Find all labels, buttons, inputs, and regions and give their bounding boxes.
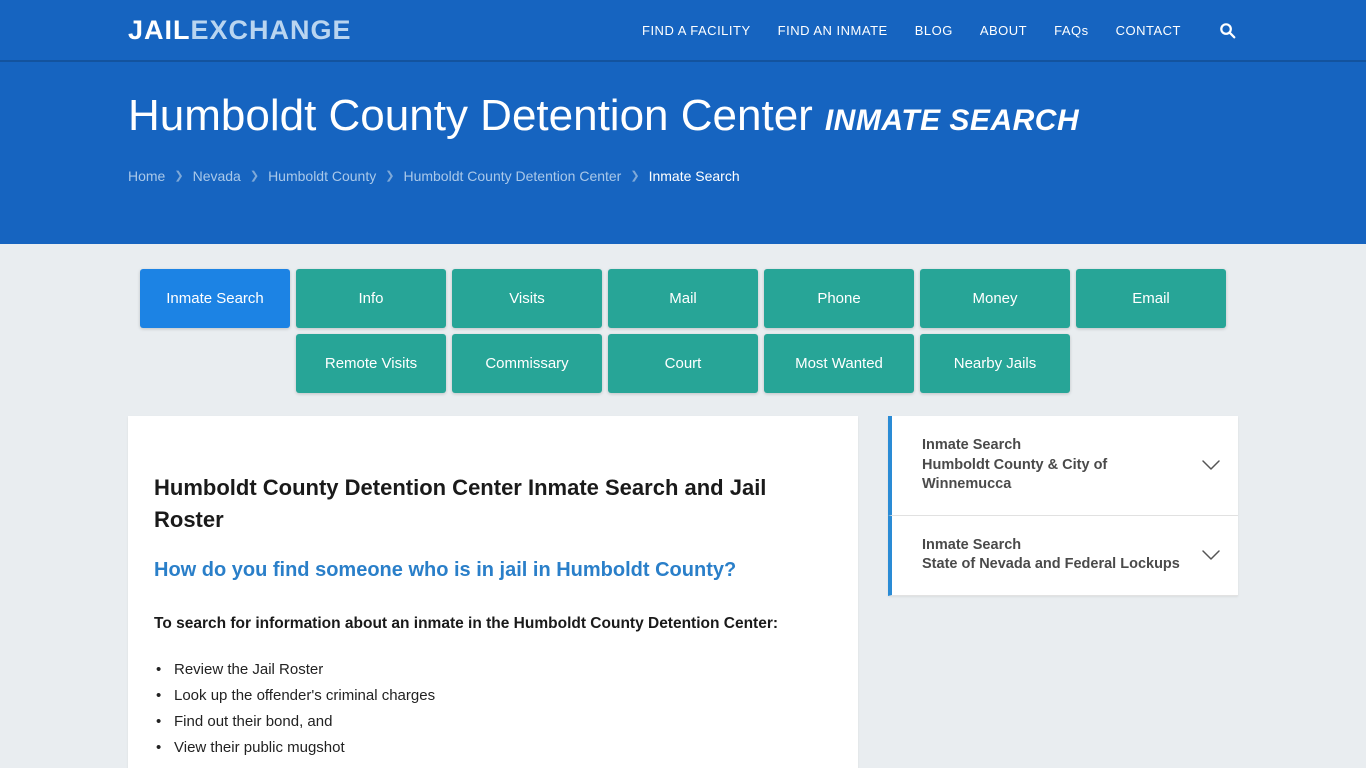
breadcrumb-item-home[interactable]: Home — [128, 168, 165, 184]
nav-item-contact[interactable]: CONTACT — [1116, 23, 1181, 38]
logo-text-exchange: EXCHANGE — [191, 15, 352, 45]
chevron-down-icon[interactable] — [1198, 549, 1224, 561]
nav-item-blog[interactable]: BLOG — [915, 23, 953, 38]
nav-item-faqs[interactable]: FAQs — [1054, 23, 1089, 38]
tab-inmate-search[interactable]: Inmate Search — [140, 269, 290, 328]
breadcrumb: Home ❯ Nevada ❯ Humboldt County ❯ Humbol… — [128, 168, 1366, 184]
accordion-item-humboldt-county[interactable]: Inmate Search Humboldt County & City of … — [888, 416, 1238, 516]
nav-item-find-a-facility[interactable]: FIND A FACILITY — [642, 23, 751, 38]
sidebar: Inmate Search Humboldt County & City of … — [888, 416, 1238, 596]
tab-visits[interactable]: Visits — [452, 269, 602, 328]
breadcrumb-separator-icon: ❯ — [250, 169, 259, 182]
accordion-title-line2: Humboldt County & City of Winnemucca — [922, 456, 1198, 495]
content-subheading: How do you find someone who is in jail i… — [154, 556, 832, 584]
search-icon[interactable] — [1216, 19, 1238, 41]
tab-court[interactable]: Court — [608, 334, 758, 393]
tab-phone[interactable]: Phone — [764, 269, 914, 328]
nav-item-about[interactable]: ABOUT — [980, 23, 1027, 38]
logo-text-jail: JAIL — [128, 15, 191, 45]
breadcrumb-separator-icon: ❯ — [385, 169, 394, 182]
list-item: Look up the offender's criminal charges — [154, 683, 832, 709]
list-item: Find out their bond, and — [154, 709, 832, 735]
chevron-down-icon[interactable] — [1198, 459, 1224, 471]
breadcrumb-item-nevada[interactable]: Nevada — [193, 168, 241, 184]
tab-remote-visits[interactable]: Remote Visits — [296, 334, 446, 393]
page-title-main: Humboldt County Detention Center — [128, 91, 813, 140]
hero-banner: Humboldt County Detention CenterINMATE S… — [0, 62, 1366, 244]
main-nav: FIND A FACILITY FIND AN INMATE BLOG ABOU… — [642, 19, 1238, 41]
top-navigation-bar: JAILEXCHANGE FIND A FACILITY FIND AN INM… — [0, 0, 1366, 62]
list-item: View their public mugshot — [154, 735, 832, 761]
tabs-row-2: Remote Visits Commissary Court Most Want… — [0, 334, 1366, 393]
accordion-title-line1: Inmate Search — [922, 437, 1021, 453]
accordion-item-label: Inmate Search State of Nevada and Federa… — [922, 536, 1198, 575]
tab-email[interactable]: Email — [1076, 269, 1226, 328]
tab-most-wanted[interactable]: Most Wanted — [764, 334, 914, 393]
tab-commissary[interactable]: Commissary — [452, 334, 602, 393]
page-title: Humboldt County Detention CenterINMATE S… — [128, 90, 1366, 142]
accordion-title-line1: Inmate Search — [922, 537, 1021, 553]
breadcrumb-item-detention-center[interactable]: Humboldt County Detention Center — [403, 168, 621, 184]
list-item: Review the Jail Roster — [154, 657, 832, 683]
tabs-row-1: Inmate Search Info Visits Mail Phone Mon… — [0, 269, 1366, 328]
accordion-item-state-of-nevada[interactable]: Inmate Search State of Nevada and Federa… — [888, 516, 1238, 596]
main-content-card: Humboldt County Detention Center Inmate … — [128, 416, 858, 768]
breadcrumb-separator-icon: ❯ — [630, 169, 639, 182]
breadcrumb-item-inmate-search: Inmate Search — [649, 168, 740, 184]
page-title-sub: INMATE SEARCH — [825, 104, 1079, 137]
accordion-title-line2: State of Nevada and Federal Lockups — [922, 555, 1198, 575]
breadcrumb-item-humboldt-county[interactable]: Humboldt County — [268, 168, 376, 184]
tab-money[interactable]: Money — [920, 269, 1070, 328]
section-tabs: Inmate Search Info Visits Mail Phone Mon… — [0, 244, 1366, 393]
content-paragraph: To search for information about an inmat… — [154, 613, 832, 636]
breadcrumb-separator-icon: ❯ — [174, 169, 183, 182]
nav-item-find-an-inmate[interactable]: FIND AN INMATE — [778, 23, 888, 38]
tab-info[interactable]: Info — [296, 269, 446, 328]
site-logo[interactable]: JAILEXCHANGE — [128, 17, 352, 44]
tab-nearby-jails[interactable]: Nearby Jails — [920, 334, 1070, 393]
content-heading: Humboldt County Detention Center Inmate … — [154, 472, 832, 536]
accordion-item-label: Inmate Search Humboldt County & City of … — [922, 436, 1198, 495]
content-area: Humboldt County Detention Center Inmate … — [0, 416, 1366, 768]
tab-mail[interactable]: Mail — [608, 269, 758, 328]
content-list: Review the Jail Roster Look up the offen… — [154, 657, 832, 760]
